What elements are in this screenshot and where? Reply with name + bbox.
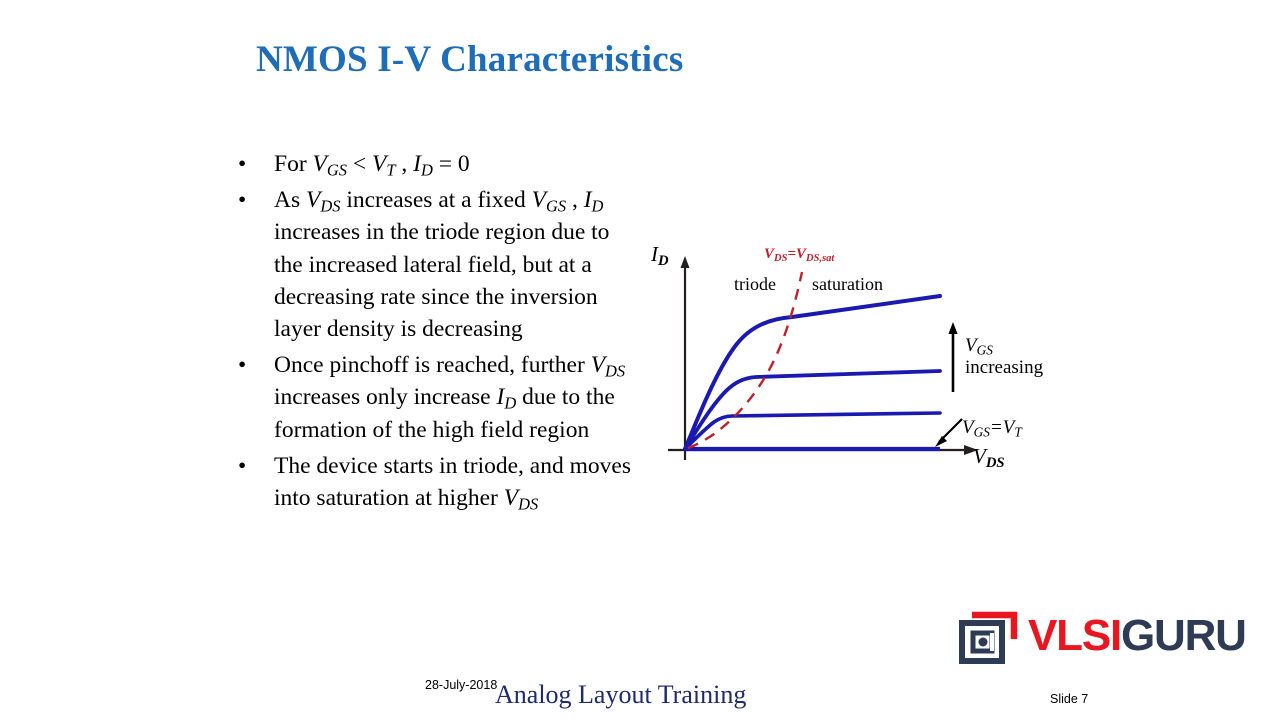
logo-wordmark: VLSIGURU [1028, 610, 1246, 662]
saturation-boundary-label: VDS=VDS,sat [764, 246, 834, 263]
list-item: • The device starts in triode, and moves… [232, 450, 632, 514]
bullet-text: For VGS < VT , ID = 0 [274, 151, 470, 177]
vlsiguru-logo: VLSIGURU [958, 609, 1246, 665]
iv-characteristics-chart: ID VDS VDS=VDS,sat triode saturation VGS… [640, 232, 1060, 482]
list-item: • As VDS increases at a fixed VGS , ID i… [232, 184, 632, 345]
slide-canvas: NMOS I-V Characteristics • For VGS < VT … [0, 0, 1280, 720]
bullet-marker: • [238, 184, 246, 216]
curve-vgs-low [685, 413, 940, 449]
x-axis-label: VDS [973, 444, 1005, 469]
saturation-boundary-dashed [688, 272, 802, 448]
bullet-marker: • [238, 349, 246, 381]
bullet-list: • For VGS < VT , ID = 0 • As VDS increas… [232, 148, 632, 514]
vlsiguru-spiral-mark [958, 609, 1022, 665]
list-item: • Once pinchoff is reached, further VDS … [232, 349, 632, 446]
page-title: NMOS I-V Characteristics [256, 38, 683, 81]
threshold-curve-label: VGS=VT [962, 417, 1022, 439]
vgs-increasing-label: VGSincreasing [965, 335, 1043, 379]
logo-text-primary: VLSI [1028, 611, 1121, 660]
list-item: • For VGS < VT , ID = 0 [232, 148, 632, 180]
bullet-marker: • [238, 450, 246, 482]
bullet-text: Once pinchoff is reached, further VDS in… [274, 352, 625, 442]
footer-date: 28-July-2018 [425, 678, 497, 692]
region-label-saturation: saturation [812, 274, 883, 295]
threshold-pointer-arrow [935, 419, 962, 447]
slide-number: Slide 7 [1050, 692, 1088, 706]
region-label-triode: triode [734, 274, 776, 295]
footer-title: Analog Layout Training [495, 680, 746, 710]
vgs-increasing-arrow [948, 322, 957, 392]
curve-vgs-medium [685, 371, 940, 449]
logo-text-secondary: GURU [1121, 611, 1246, 660]
bullet-text: As VDS increases at a fixed VGS , ID inc… [274, 187, 609, 342]
y-axis-label: ID [651, 242, 669, 267]
bullet-text: The device starts in triode, and moves i… [274, 453, 631, 511]
bullet-marker: • [238, 148, 246, 180]
